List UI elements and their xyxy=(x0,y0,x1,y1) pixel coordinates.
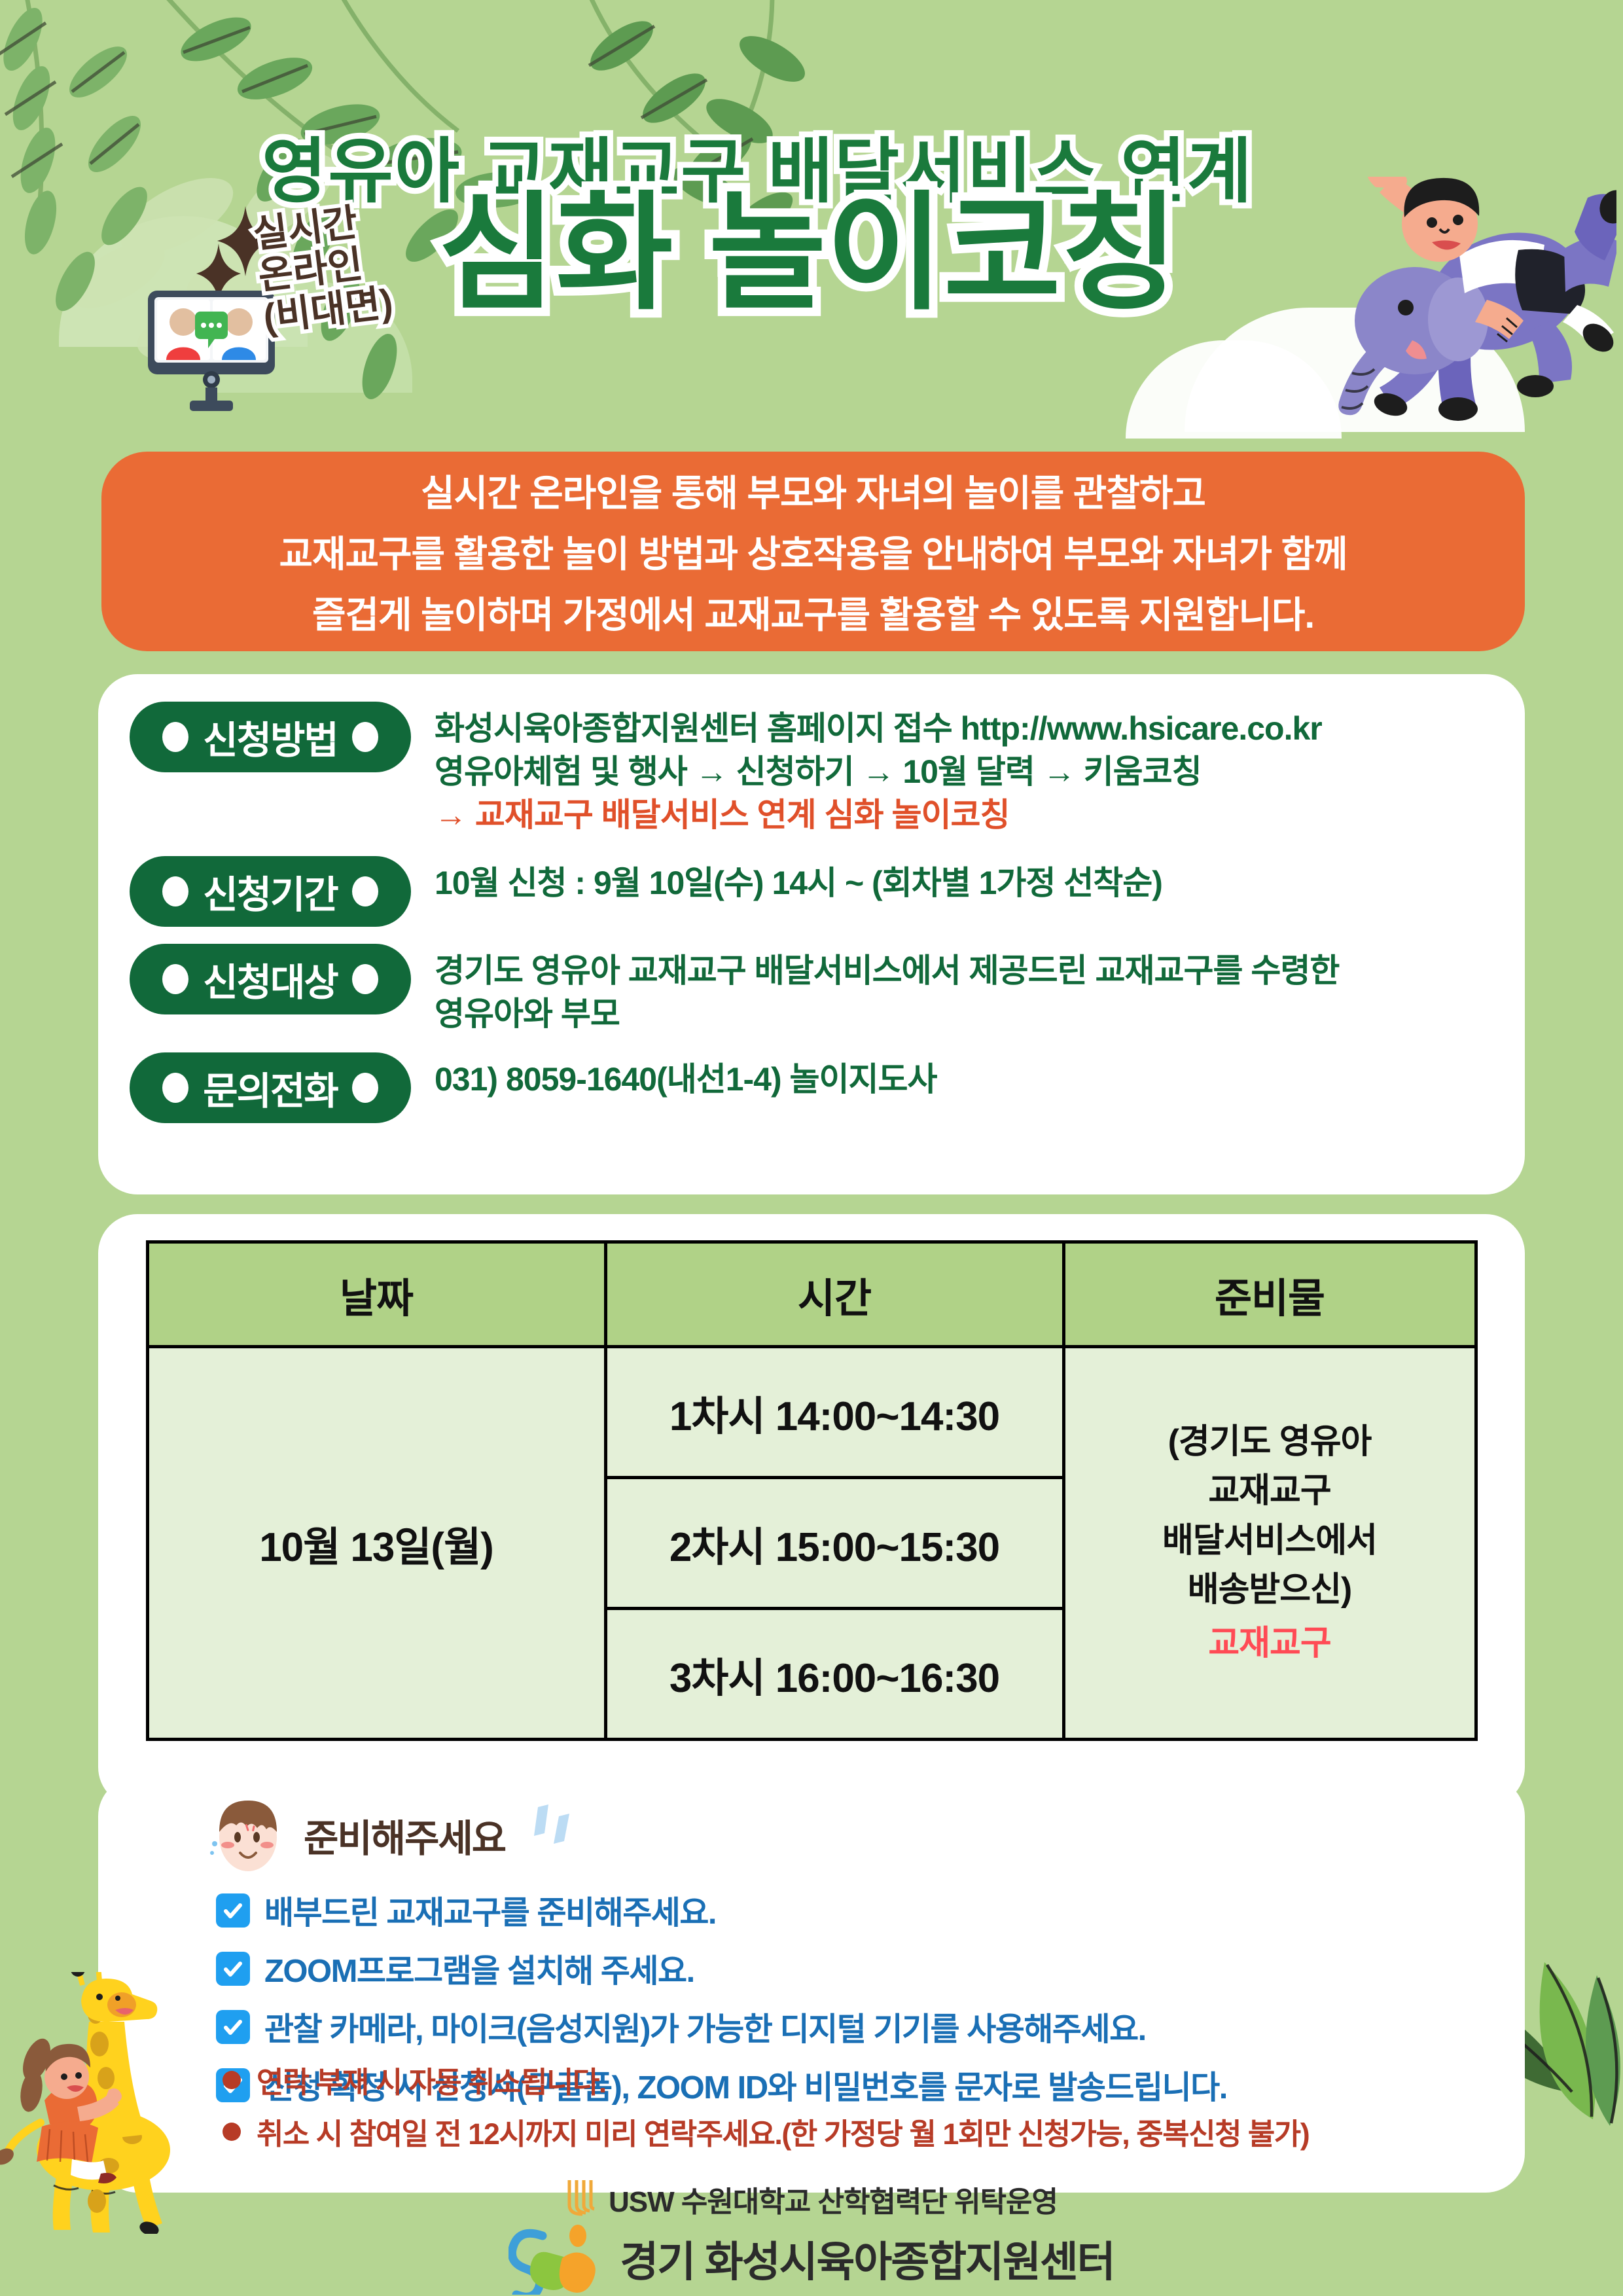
prep-line-1: 교재교구 xyxy=(1208,1472,1330,1510)
info-row-application-method: 신청방법 화성시육아종합지원센터 홈페이지 접수 http://www.hsic… xyxy=(98,702,1525,836)
table-header-items: 준비물 xyxy=(1063,1242,1476,1347)
list-item: ZOOM프로그램을 설치해 주세요. xyxy=(216,1945,1227,1992)
cell-session-3: 3차시 16:00~16:30 xyxy=(605,1609,1063,1740)
label-pill-application-method: 신청방법 xyxy=(130,702,411,772)
center-row: 경기 화성시육아종합지원센터 xyxy=(508,2223,1114,2295)
checkbox-checked-icon xyxy=(216,1893,250,1928)
pill-label: 신청방법 xyxy=(203,709,337,764)
cell-prepare-items: (경기도 영유아 교재교구 배달서비스에서 배송받으신) 교재교구 xyxy=(1063,1347,1476,1740)
info-line: 영유아와 부모 xyxy=(435,992,1339,1035)
usw-text: USW 수원대학교 산학협력단 위탁운영 xyxy=(609,2178,1058,2220)
table-row: 10월 13일(월) 1차시 14:00~14:30 (경기도 영유아 교재교구… xyxy=(147,1347,1476,1478)
list-item: 연락 부재 시 자동 취소됩니다. xyxy=(223,2058,1309,2101)
sparkle-lines-icon xyxy=(522,1804,594,1867)
info-text-eligibility: 경기도 영유아 교재교구 배달서비스에서 제공드린 교재교구를 수령한 영유아와… xyxy=(435,944,1339,1035)
list-item: 취소 시 참여일 전 12시까지 미리 연락주세요.(한 가정당 월 1회만 신… xyxy=(223,2110,1309,2153)
footer: USW 수원대학교 산학협력단 위탁운영 경기 화성시육아종합지원센터 xyxy=(0,2172,1623,2296)
info-row-eligibility: 신청대상 경기도 영유아 교재교구 배달서비스에서 제공드린 교재교구를 수령한… xyxy=(98,944,1525,1035)
program-description-banner: 실시간 온라인을 통해 부모와 자녀의 놀이를 관찰하고 교재교구를 활용한 놀… xyxy=(101,452,1525,651)
pill-label: 문의전화 xyxy=(203,1060,337,1115)
list-item: 관찰 카메라, 마이크(음성지원)가 가능한 디지털 기기를 사용해주세요. xyxy=(216,2003,1227,2050)
application-info-card: 신청방법 화성시육아종합지원센터 홈페이지 접수 http://www.hsic… xyxy=(98,674,1525,1194)
note-text: 취소 시 참여일 전 12시까지 미리 연락주세요.(한 가정당 월 1회만 신… xyxy=(257,2110,1309,2153)
label-pill-eligibility: 신청대상 xyxy=(130,944,411,1014)
checklist-item-text: ZOOM프로그램을 설치해 주세요. xyxy=(264,1945,694,1992)
pill-label: 신청기간 xyxy=(203,864,337,919)
info-line: 031) 8059-1640(내선1-4) 놀이지도사 xyxy=(435,1058,937,1101)
pill-dot-left-icon xyxy=(162,964,188,994)
info-row-contact-phone: 문의전화 031) 8059-1640(내선1-4) 놀이지도사 xyxy=(98,1052,1525,1123)
banner-line-2: 즐겁게 놀이하며 가정에서 교재교구를 활용할 수 있도록 지원합니다. xyxy=(312,586,1314,639)
center-name: 경기 화성시육아종합지원센터 xyxy=(620,2229,1114,2289)
hero-title-main: 심화 놀이코칭 xyxy=(438,190,1179,317)
preparation-title: 준비해주세요 xyxy=(304,1808,505,1863)
info-line-accent: → 교재교구 배달서비스 연계 심화 놀이코칭 xyxy=(435,793,1322,836)
pill-dot-right-icon xyxy=(352,964,378,994)
hero-header: 영유아 교재교구 배달서비스 연계 실시간 온라인 (비대면) 심화 놀이코칭 xyxy=(0,0,1623,458)
table-header-time: 시간 xyxy=(605,1242,1063,1347)
checklist-item-text: 배부드린 교재교구를 준비해주세요. xyxy=(264,1887,716,1933)
preparation-heading: 준비해주세요 xyxy=(209,1797,594,1874)
pill-dot-left-icon xyxy=(162,1073,188,1103)
video-call-monitor-icon xyxy=(143,288,280,412)
checklist-item-text: 관찰 카메라, 마이크(음성지원)가 가능한 디지털 기기를 사용해주세요. xyxy=(264,2003,1146,2050)
table-header-date: 날짜 xyxy=(147,1242,605,1347)
info-text-application-method: 화성시육아종합지원센터 홈페이지 접수 http://www.hsicare.c… xyxy=(435,702,1322,836)
child-face-icon xyxy=(209,1797,287,1874)
usw-logo-icon xyxy=(565,2179,599,2219)
pill-dot-right-icon xyxy=(352,1073,378,1103)
schedule-table: 날짜 시간 준비물 10월 13일(월) 1차시 14:00~14:30 (경기… xyxy=(146,1240,1478,1741)
banner-line-0: 실시간 온라인을 통해 부모와 자녀의 놀이를 관찰하고 xyxy=(421,464,1205,517)
prep-line-3: 배송받으신) xyxy=(1188,1571,1352,1609)
cell-session-1: 1차시 14:00~14:30 xyxy=(605,1347,1063,1478)
prep-line-2: 배달서비스에서 xyxy=(1162,1522,1377,1560)
hero-mode-badges: 실시간 온라인 (비대면) xyxy=(251,200,395,337)
info-text-application-period: 10월 신청 : 9월 10일(수) 14시 ~ (회차별 1가정 선착순) xyxy=(435,856,1162,905)
table-header-row: 날짜 시간 준비물 xyxy=(147,1242,1476,1347)
prep-line-0: (경기도 영유아 xyxy=(1168,1423,1372,1461)
schedule-table-card: 날짜 시간 준비물 10월 13일(월) 1차시 14:00~14:30 (경기… xyxy=(98,1214,1525,1806)
cancellation-notes: 연락 부재 시 자동 취소됩니다. 취소 시 참여일 전 12시까지 미리 연락… xyxy=(223,2058,1309,2162)
info-line: 영유아체험 및 행사 → 신청하기 → 10월 달력 → 키움코칭 xyxy=(435,750,1322,793)
info-row-application-period: 신청기간 10월 신청 : 9월 10일(수) 14시 ~ (회차별 1가정 선… xyxy=(98,856,1525,927)
pill-label: 신청대상 xyxy=(203,952,337,1007)
list-item: 배부드린 교재교구를 준비해주세요. xyxy=(216,1887,1227,1933)
info-line: 10월 신청 : 9월 10일(수) 14시 ~ (회차별 1가정 선착순) xyxy=(435,861,1162,905)
boy-riding-elephant-illustration xyxy=(1224,177,1616,452)
preparation-checklist-card: 준비해주세요 배부드린 교재교구를 준비해주세요. ZOOM프로그램을 설치해 … xyxy=(98,1777,1525,2193)
cell-date: 10월 13일(월) xyxy=(147,1347,605,1740)
info-line: 경기도 영유아 교재교구 배달서비스에서 제공드린 교재교구를 수령한 xyxy=(435,949,1339,992)
pill-dot-right-icon xyxy=(352,876,378,906)
center-logo-icon xyxy=(508,2223,607,2295)
pill-dot-left-icon xyxy=(162,876,188,906)
label-pill-application-period: 신청기간 xyxy=(130,856,411,927)
cell-session-2: 2차시 15:00~15:30 xyxy=(605,1478,1063,1609)
banner-line-1: 교재교구를 활용한 놀이 방법과 상호작용을 안내하여 부모와 자녀가 함께 xyxy=(279,525,1347,578)
pill-dot-left-icon xyxy=(162,722,188,752)
info-text-contact-phone: 031) 8059-1640(내선1-4) 놀이지도사 xyxy=(435,1052,937,1101)
info-line: 화성시육아종합지원센터 홈페이지 접수 http://www.hsicare.c… xyxy=(435,707,1322,750)
usw-row: USW 수원대학교 산학협력단 위탁운영 xyxy=(565,2178,1058,2220)
prep-highlight: 교재교구 xyxy=(1072,1619,1468,1668)
label-pill-contact-phone: 문의전화 xyxy=(130,1052,411,1123)
pill-dot-right-icon xyxy=(352,722,378,752)
note-text: 연락 부재 시 자동 취소됩니다. xyxy=(257,2058,606,2101)
